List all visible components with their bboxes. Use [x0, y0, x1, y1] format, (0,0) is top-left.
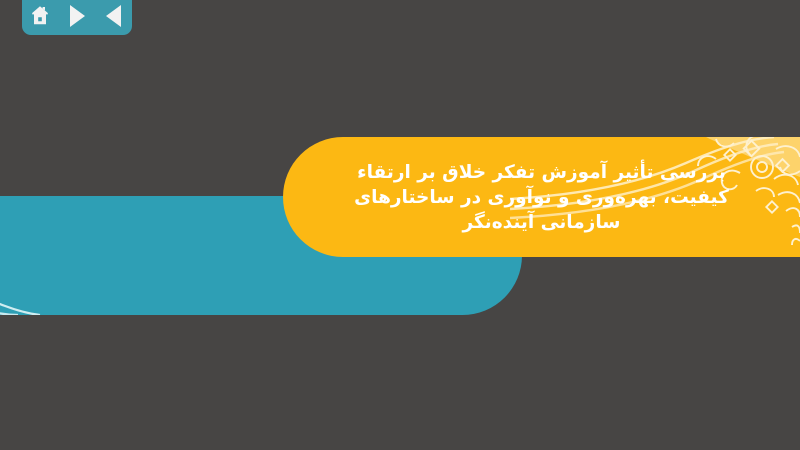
slide-title: بررسی تأثیر آموزش تفکر خلاق بر ارتقاء کی…	[283, 137, 800, 257]
previous-slide-button[interactable]	[101, 3, 127, 29]
triangle-right-icon	[70, 5, 85, 27]
triangle-left-icon	[106, 5, 121, 27]
home-icon	[28, 4, 52, 28]
slide-navigation-bar	[22, 0, 132, 35]
presentation-slide: بررسی تأثیر آموزش تفکر خلاق بر ارتقاء کی…	[0, 0, 800, 450]
title-line-2: کیفیت، بهره‌وری و نوآوری در ساختارهای	[354, 185, 729, 210]
next-slide-button[interactable]	[64, 3, 90, 29]
title-line-3: سازمانی آینده‌نگر	[463, 210, 621, 235]
title-banner-shape: بررسی تأثیر آموزش تفکر خلاق بر ارتقاء کی…	[283, 137, 800, 257]
title-line-1: بررسی تأثیر آموزش تفکر خلاق بر ارتقاء	[357, 160, 726, 185]
home-button[interactable]	[27, 3, 53, 29]
